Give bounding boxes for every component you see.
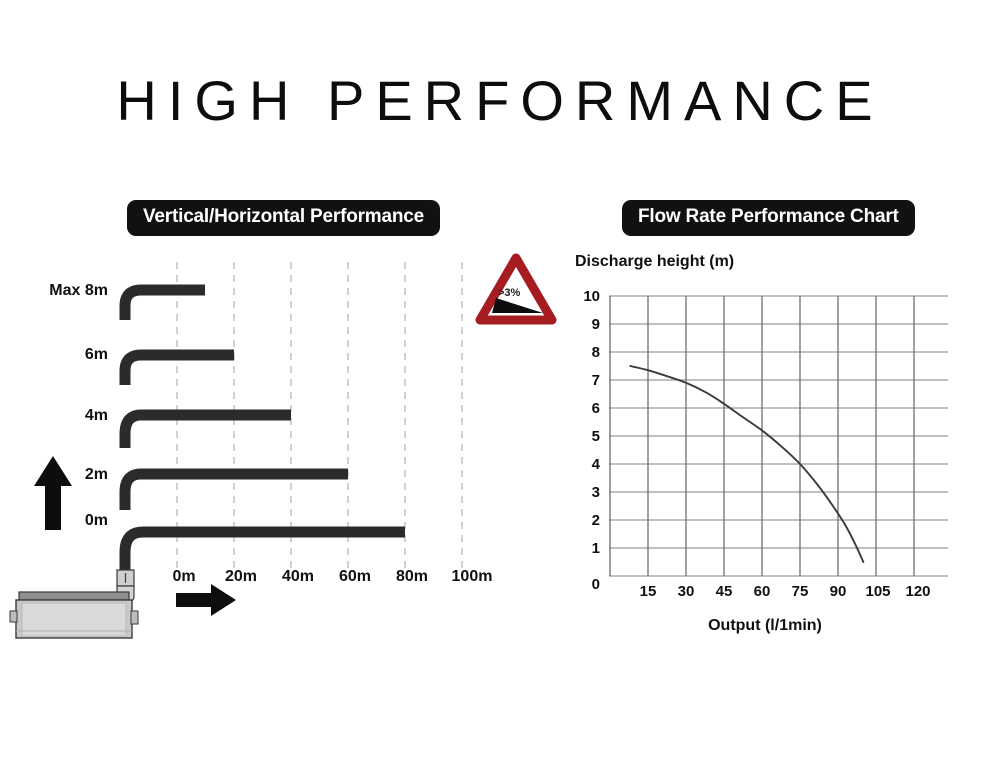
section-heading-vertical-horizontal-performance: Vertical/Horizontal Performance xyxy=(127,200,440,236)
y-tick-5: 5 xyxy=(592,428,600,445)
up-arrow-icon xyxy=(34,456,72,530)
chart-y-tick-labels: 10 9 8 7 6 5 4 3 2 1 0 xyxy=(583,288,600,593)
slope-warning-sign: >3% xyxy=(480,258,552,320)
height-label-4m: 4m xyxy=(85,407,108,424)
section-heading-flow-rate-performance-chart: Flow Rate Performance Chart xyxy=(622,200,915,236)
distance-label-40m: 40m xyxy=(282,568,314,585)
distance-axis-labels: 0m 20m 40m 60m 80m 100m xyxy=(172,568,492,585)
slope-warning-label: >3% xyxy=(498,287,521,299)
x-tick-60: 60 xyxy=(754,583,771,600)
y-tick-8: 8 xyxy=(592,344,600,361)
condensate-pump-unit xyxy=(10,592,138,638)
page-title: HIGH PERFORMANCE xyxy=(0,68,1000,133)
vertical-horizontal-performance-diagram: Max 8m 6m 4m 2m 0m 0m 20m 40m 60m 80m 10… xyxy=(0,240,570,660)
y-tick-7: 7 xyxy=(592,372,600,389)
pipe-runs xyxy=(125,290,405,575)
height-label-6m: 6m xyxy=(85,346,108,363)
distance-label-100m: 100m xyxy=(452,568,493,585)
pipe-run-6m xyxy=(125,355,234,385)
chart-x-tick-labels: 15 30 45 60 75 90 105 120 xyxy=(640,583,931,600)
flow-rate-performance-chart: Discharge height (m) 10 9 8 7 6 5 4 3 xyxy=(560,240,1000,660)
right-arrow-icon xyxy=(176,584,236,616)
x-tick-15: 15 xyxy=(640,583,657,600)
x-tick-45: 45 xyxy=(716,583,733,600)
x-tick-90: 90 xyxy=(830,583,847,600)
y-tick-4: 4 xyxy=(592,456,601,473)
x-tick-75: 75 xyxy=(792,583,809,600)
height-label-0m: 0m xyxy=(85,512,108,529)
y-tick-6: 6 xyxy=(592,400,600,417)
y-tick-9: 9 xyxy=(592,316,600,333)
pipe-run-8m xyxy=(125,290,205,320)
y-tick-2: 2 xyxy=(592,512,600,529)
pipe-run-2m xyxy=(125,474,348,510)
x-tick-120: 120 xyxy=(905,583,930,600)
y-tick-10: 10 xyxy=(583,288,600,305)
chart-x-axis-title: Output (l/1min) xyxy=(708,617,822,634)
y-tick-3: 3 xyxy=(592,484,600,501)
x-tick-105: 105 xyxy=(865,583,890,600)
height-label-max-8m: Max 8m xyxy=(49,282,108,299)
x-tick-30: 30 xyxy=(678,583,695,600)
distance-label-60m: 60m xyxy=(339,568,371,585)
chart-horizontal-gridlines xyxy=(609,296,948,576)
height-label-2m: 2m xyxy=(85,466,108,483)
distance-label-20m: 20m xyxy=(225,568,257,585)
chart-y-axis-title: Discharge height (m) xyxy=(575,253,734,270)
distance-label-80m: 80m xyxy=(396,568,428,585)
distance-label-0m: 0m xyxy=(172,568,195,585)
pipe-run-4m xyxy=(125,415,291,448)
y-tick-1: 1 xyxy=(592,540,600,557)
y-tick-0: 0 xyxy=(592,576,600,593)
